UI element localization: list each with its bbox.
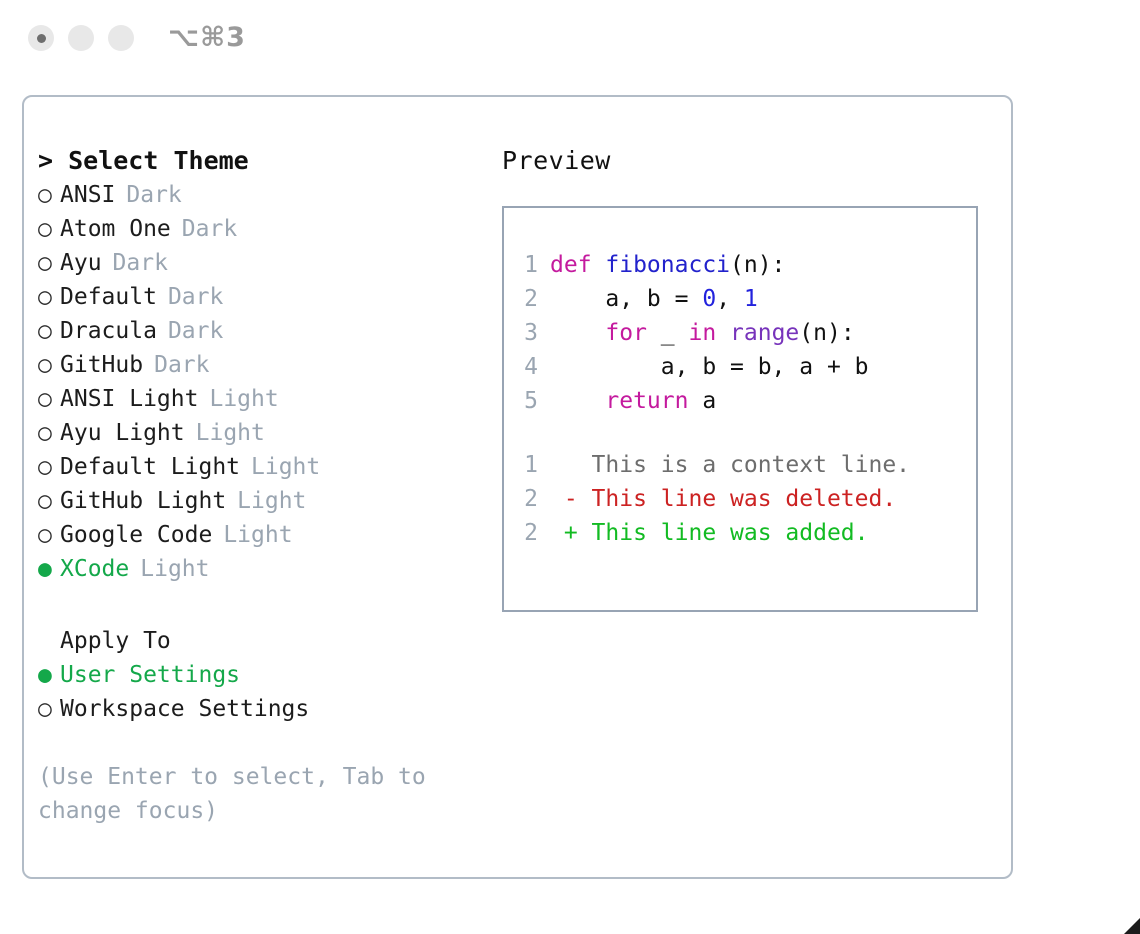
radio-selected-icon: ● [38, 552, 60, 586]
theme-option-7[interactable]: ○Ayu LightLight [38, 416, 488, 450]
theme-option-8[interactable]: ○Default LightLight [38, 450, 488, 484]
radio-selected-icon: ● [38, 658, 60, 692]
theme-option-label: ANSI [60, 178, 115, 212]
radio-unselected-icon: ○ [38, 518, 60, 552]
code-line-1: 2 a, b = 0, 1 [504, 282, 976, 316]
theme-option-variant-tag: Light [240, 450, 320, 484]
theme-option-variant-tag: Dark [171, 212, 237, 246]
code-diff-spacer [504, 418, 976, 448]
theme-option-label: Default Light [60, 450, 240, 484]
hint-text: (Use Enter to select, Tab to change focu… [38, 760, 438, 828]
radio-unselected-icon: ○ [38, 416, 60, 450]
code-token-plain: (n): [799, 320, 854, 346]
apply-to-option-1[interactable]: ○Workspace Settings [38, 692, 488, 726]
code-line-text: a, b = b, a + b [550, 350, 869, 384]
theme-selector-column: > Select Theme ○ANSIDark○Atom OneDark○Ay… [38, 144, 488, 828]
radio-unselected-icon: ○ [38, 246, 60, 280]
code-token-number: 1 [744, 286, 758, 312]
code-line-4: 5 return a [504, 384, 976, 418]
window-maximize-button[interactable] [108, 25, 134, 51]
code-token-number: 0 [702, 286, 716, 312]
code-token-plain: a [688, 388, 716, 414]
title-bar: ⌥⌘3 [0, 0, 1140, 78]
theme-option-variant-tag: Light [129, 552, 209, 586]
theme-option-variant-tag: Light [226, 484, 306, 518]
radio-unselected-icon: ○ [38, 382, 60, 416]
code-token-plain: _ [647, 320, 689, 346]
radio-unselected-icon: ○ [38, 178, 60, 212]
code-sample: 1def fibonacci(n):2 a, b = 0, 13 for _ i… [504, 248, 976, 418]
code-line-3: 4 a, b = b, a + b [504, 350, 976, 384]
theme-option-variant-tag: Light [212, 518, 292, 552]
theme-option-label: Default [60, 280, 157, 314]
diff-line-2: 2 + This line was added. [504, 516, 976, 550]
theme-option-variant-tag: Dark [102, 246, 168, 280]
code-line-text: for _ in range(n): [550, 316, 855, 350]
radio-unselected-icon: ○ [38, 450, 60, 484]
window-close-button[interactable] [28, 25, 54, 51]
diff-sample: 1 This is a context line.2 - This line w… [504, 448, 976, 550]
code-token-keyword: for [605, 320, 647, 346]
theme-option-9[interactable]: ○GitHub LightLight [38, 484, 488, 518]
code-line-number: 5 [504, 384, 550, 418]
theme-option-variant-tag: Dark [115, 178, 181, 212]
theme-option-label: XCode [60, 552, 129, 586]
theme-option-variant-tag: Light [185, 416, 265, 450]
theme-option-variant-tag: Light [198, 382, 278, 416]
preview-column: Preview 1def fibonacci(n):2 a, b = 0, 13… [502, 144, 1002, 612]
theme-option-0[interactable]: ○ANSIDark [38, 178, 488, 212]
diff-line-text: - This line was deleted. [550, 482, 896, 516]
theme-option-label: ANSI Light [60, 382, 198, 416]
radio-unselected-icon: ○ [38, 314, 60, 348]
theme-option-1[interactable]: ○Atom OneDark [38, 212, 488, 246]
apply-to-title: Apply To [38, 624, 488, 658]
window-controls [28, 25, 134, 51]
theme-option-10[interactable]: ○Google CodeLight [38, 518, 488, 552]
theme-option-label: Ayu Light [60, 416, 185, 450]
theme-option-label: GitHub [60, 348, 143, 382]
radio-unselected-icon: ○ [38, 212, 60, 246]
code-token-call: range [730, 320, 799, 346]
diff-line-text: This is a context line. [550, 448, 910, 482]
theme-option-label: GitHub Light [60, 484, 226, 518]
radio-unselected-icon: ○ [38, 348, 60, 382]
diff-line-number: 2 [504, 516, 550, 550]
preview-heading: Preview [502, 144, 1002, 178]
code-line-number: 1 [504, 248, 550, 282]
code-token-plain: a, b = b, a + b [550, 354, 869, 380]
code-token-plain: (n): [730, 252, 785, 278]
close-dot-icon [37, 34, 46, 43]
theme-list[interactable]: ○ANSIDark○Atom OneDark○AyuDark○DefaultDa… [38, 178, 488, 586]
select-theme-header: > Select Theme [38, 144, 488, 178]
code-line-text: def fibonacci(n): [550, 248, 785, 282]
theme-option-2[interactable]: ○AyuDark [38, 246, 488, 280]
theme-option-3[interactable]: ○DefaultDark [38, 280, 488, 314]
theme-option-4[interactable]: ○DraculaDark [38, 314, 488, 348]
diff-line-0: 1 This is a context line. [504, 448, 976, 482]
code-token-plain: a, b = [550, 286, 702, 312]
code-token-function: fibonacci [605, 252, 730, 278]
code-token-plain [550, 320, 605, 346]
main-window-panel: > Select Theme ○ANSIDark○Atom OneDark○Ay… [22, 95, 1013, 879]
code-line-number: 4 [504, 350, 550, 384]
code-token-keyword: def [550, 252, 605, 278]
diff-line-1: 2 - This line was deleted. [504, 482, 976, 516]
code-line-text: a, b = 0, 1 [550, 282, 758, 316]
apply-to-option-0[interactable]: ●User Settings [38, 658, 488, 692]
code-line-number: 2 [504, 282, 550, 316]
apply-to-option-label: User Settings [60, 658, 240, 692]
radio-unselected-icon: ○ [38, 484, 60, 518]
theme-option-5[interactable]: ○GitHubDark [38, 348, 488, 382]
theme-option-variant-tag: Dark [143, 348, 209, 382]
code-line-text: return a [550, 384, 716, 418]
diff-line-number: 2 [504, 482, 550, 516]
theme-option-label: Ayu [60, 246, 102, 280]
theme-option-label: Dracula [60, 314, 157, 348]
window-minimize-button[interactable] [68, 25, 94, 51]
radio-unselected-icon: ○ [38, 280, 60, 314]
code-token-plain [716, 320, 730, 346]
apply-to-option-label: Workspace Settings [60, 692, 309, 726]
code-token-keyword: in [688, 320, 716, 346]
code-token-keyword: return [605, 388, 688, 414]
keyboard-shortcut-label: ⌥⌘3 [168, 22, 246, 53]
page-corner-mark [1106, 900, 1140, 934]
code-line-0: 1def fibonacci(n): [504, 248, 976, 282]
preview-box: 1def fibonacci(n):2 a, b = 0, 13 for _ i… [502, 206, 978, 612]
diff-line-text: + This line was added. [550, 516, 869, 550]
theme-option-variant-tag: Dark [157, 280, 223, 314]
theme-option-label: Google Code [60, 518, 212, 552]
theme-option-label: Atom One [60, 212, 171, 246]
code-line-2: 3 for _ in range(n): [504, 316, 976, 350]
code-token-plain [550, 388, 605, 414]
theme-option-6[interactable]: ○ANSI LightLight [38, 382, 488, 416]
apply-to-list[interactable]: ●User Settings○Workspace Settings [38, 658, 488, 726]
theme-option-11[interactable]: ●XCodeLight [38, 552, 488, 586]
apply-to-section: Apply To ●User Settings○Workspace Settin… [38, 624, 488, 726]
code-token-plain: , [716, 286, 744, 312]
diff-line-number: 1 [504, 448, 550, 482]
theme-option-variant-tag: Dark [157, 314, 223, 348]
code-line-number: 3 [504, 316, 550, 350]
radio-unselected-icon: ○ [38, 692, 60, 726]
